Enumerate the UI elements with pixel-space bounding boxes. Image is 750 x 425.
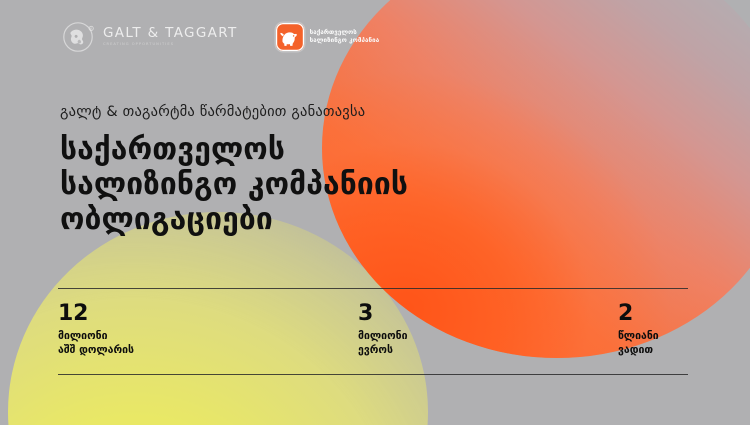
georgian-leasing-dog-icon [276,23,304,51]
stat-label-line-2: აშშ დოლარის [58,343,358,357]
stat-value: 12 [58,303,358,325]
stat-label-line-2: ევროს [358,343,618,357]
stat-label-line-1: მილიონი [58,329,358,343]
logo-bar: R GALT & TAGGART CREATING OPPORTUNITIES … [62,20,379,54]
georgian-leasing-name-line-2: სალიზინგო კომპანია [310,37,380,45]
logo-galt-taggart[interactable]: R GALT & TAGGART CREATING OPPORTUNITIES [62,20,238,54]
divider-top [58,288,688,289]
headline-line-2: სალიზინგო კომპანიის [60,167,408,202]
svg-text:R: R [90,26,92,30]
headline-line-3: ობლიგაციები [60,202,408,237]
galt-taggart-tagline: CREATING OPPORTUNITIES [103,43,238,47]
divider-bottom [58,374,688,375]
page-title: საქართველოს სალიზინგო კომპანიის ობლიგაცი… [60,132,408,237]
headline-line-1: საქართველოს [60,132,408,167]
logo-georgian-leasing-company[interactable]: საქართველოს სალიზინგო კომპანია [276,23,380,51]
stat-label-line-2: ვადით [618,343,688,357]
stats-section: 12 მილიონი აშშ დოლარის 3 მილიონი ევროს 2… [58,288,688,375]
stat-item-term: 2 წლიანი ვადით [618,303,688,374]
stat-value: 2 [618,303,688,325]
galt-taggart-wordmark: GALT & TAGGART [103,27,238,41]
georgian-leasing-name-line-1: საქართველოს [310,29,380,37]
stat-item-amount-usd: 12 მილიონი აშშ დოლარის [58,303,358,374]
stat-item-amount-eur: 3 მილიონი ევროს [358,303,618,374]
stats-row: 12 მილიონი აშშ დოლარის 3 მილიონი ევროს 2… [58,289,688,374]
headline-block: გალტ & თაგარტმა წარმატებით განათავსა საქ… [60,104,408,237]
promotional-banner: R GALT & TAGGART CREATING OPPORTUNITIES … [0,0,750,425]
stat-value: 3 [358,303,618,325]
stat-label-line-1: მილიონი [358,329,618,343]
galt-taggart-lion-emblem-icon: R [62,20,96,54]
eyebrow-text: გალტ & თაგარტმა წარმატებით განათავსა [60,104,408,120]
stat-label-line-1: წლიანი [618,329,688,343]
